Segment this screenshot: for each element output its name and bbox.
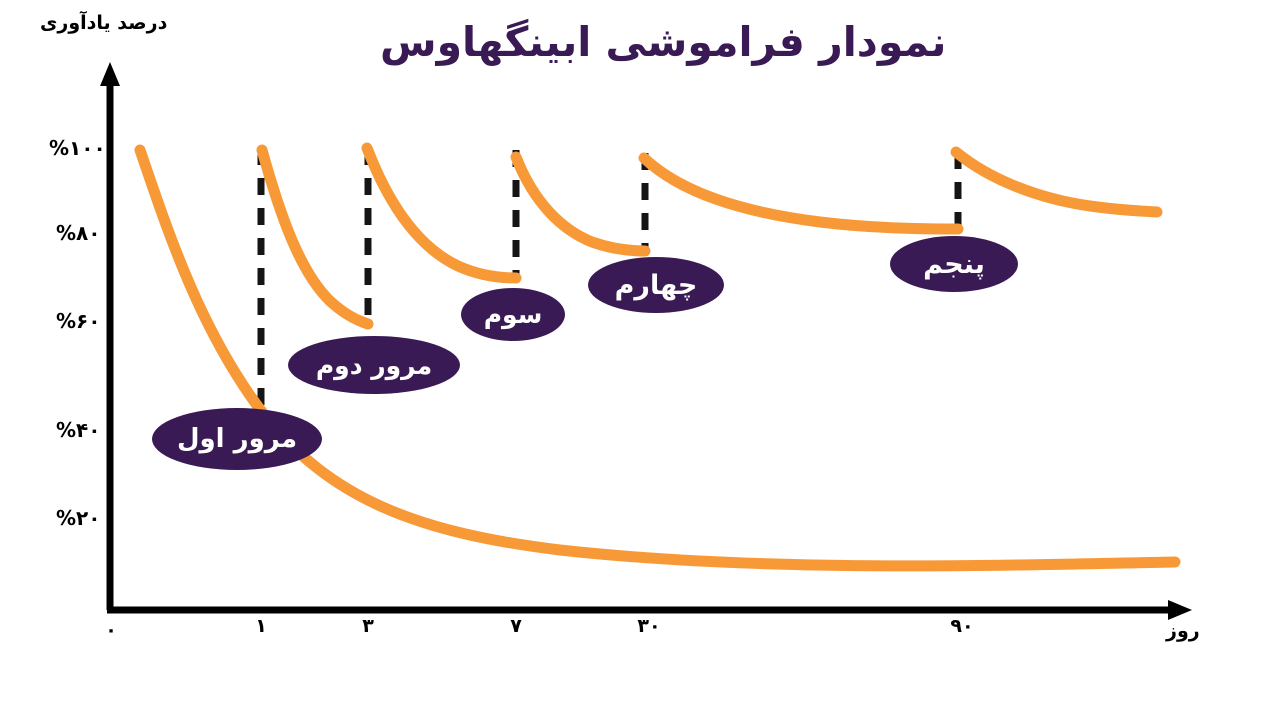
- curve-after-review-1: [262, 150, 368, 324]
- y-axis-arrow: [100, 62, 120, 86]
- page-title: نمودار فراموشی ابینگهاوس: [380, 18, 946, 66]
- y-tick-label-20: %۲۰: [56, 506, 100, 530]
- y-tick-label-60: %۶۰: [56, 309, 100, 333]
- x-axis-title: روز: [1166, 620, 1200, 642]
- curve-after-review-3: [516, 157, 645, 251]
- y-tick-label-100: %۱۰۰: [49, 136, 106, 160]
- x-tick-label-7: ۷: [505, 615, 527, 637]
- x-tick-label-3: ۳: [357, 615, 379, 637]
- marker-review-3[interactable]: سوم: [461, 288, 565, 341]
- x-tick-label-1: ۱: [250, 615, 272, 637]
- y-tick-label-80: %۸۰: [56, 221, 100, 245]
- curve-after-review-4: [644, 158, 958, 229]
- marker-review-5[interactable]: پنجم: [890, 236, 1018, 292]
- y-axis-title: درصد یادآوری: [40, 12, 167, 34]
- x-tick-label-90: ۹۰: [946, 615, 978, 637]
- forgetting-curve-svg: [0, 0, 1280, 720]
- marker-review-2[interactable]: مرور دوم: [288, 336, 460, 394]
- x-axis-arrow: [1168, 600, 1192, 620]
- x-tick-label-30: ۳۰: [633, 615, 665, 637]
- curve-after-review-2: [367, 148, 516, 278]
- y-tick-label-40: %۴۰: [56, 418, 100, 442]
- x-tick-label-0: ۰: [100, 619, 122, 641]
- marker-review-1[interactable]: مرور اول: [152, 408, 322, 470]
- curve-after-review-5: [956, 152, 1157, 212]
- marker-review-4[interactable]: چهارم: [588, 257, 724, 313]
- chart-canvas: نمودار فراموشی ابینگهاوس درصد یادآوری رو…: [0, 0, 1280, 720]
